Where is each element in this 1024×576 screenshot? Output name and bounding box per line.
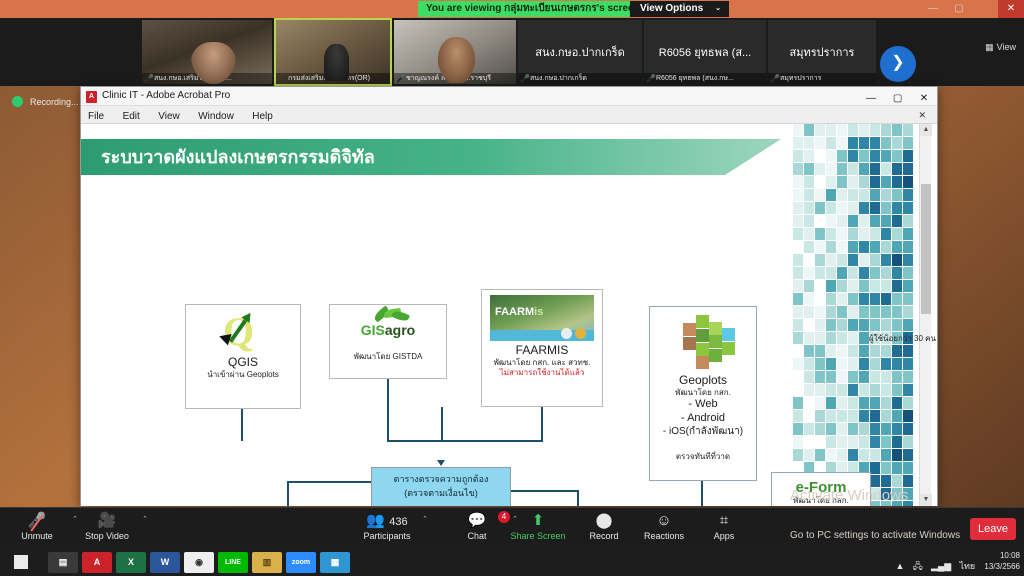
qgis-subtitle: นำเข้าผ่าน Geoplots [186,370,300,380]
activate-windows-subtext: Go to PC settings to activate Windows [790,530,960,541]
acrobat-menu-bar: File Edit View Window Help ✕ [81,106,937,124]
participant-name: สมุทรปราการ [768,73,876,84]
connector-line [511,490,579,492]
view-options-button[interactable]: View Options⌄ [630,1,729,17]
taskbar-item-folder-explorer-icon[interactable]: ▤ [48,552,78,573]
signal-bars-icon[interactable]: ▂▄▆ [931,561,951,572]
participants-count: 436 [389,516,407,528]
unmute-label: Unmute [0,531,74,541]
taskbar-item-line-app-icon[interactable]: LINE [218,552,248,573]
geoplots-platform-web: - Web [650,398,756,412]
apps-bracket-icon: ⌗ [687,511,761,531]
heatmap-legend-label: ผู้ใช้น้อยกว่า 30 คน [869,332,936,345]
taskbar-item-zoom-app-icon[interactable]: zoom [286,552,316,573]
share-screen-button[interactable]: ⬆ Share Screen [501,511,575,541]
acrobat-window-controls: — ▢ ✕ [860,88,935,107]
share-screen-up-arrow-icon: ⬆ [501,511,575,531]
faarmis-logo-icon: FAARMis [490,295,594,341]
gisagro-name-part-b: agro [385,322,415,338]
page-title: ระบบวาดผังแปลงเกษตรกรรมดิจิทัล [101,142,375,171]
clock-time[interactable]: 10:08 [984,550,1020,561]
taskbar-item-excel-icon[interactable]: X [116,552,146,573]
pdf-scrollbar[interactable]: ▲ ▼ [919,124,931,506]
next-participants-button[interactable]: ❯ [880,46,916,82]
connector-line [443,440,543,442]
screen-root: You are viewing กลุ่มทะเบียนเกษตรกร's sc… [0,0,1024,576]
faarmis-warning: ไม่สามารถใช้งานได้แล้ว [482,368,602,378]
participant-name: สนง.กษอ.เสริมไทย ทิพย์... [142,73,272,84]
faarmis-name: FAARMIS [482,343,602,358]
connector-line [701,481,703,506]
leave-meeting-button[interactable]: Leave [970,518,1016,540]
zoom-top-bar: You are viewing กลุ่มทะเบียนเกษตรกร's sc… [0,0,1024,18]
participant-tile-active[interactable]: กรมส่งเสริมการเกษตร(OR) [274,18,392,86]
connector-line [387,379,389,441]
recording-indicator-icon [12,96,23,107]
acrobat-window-title: Clinic IT - Adobe Acrobat Pro [102,90,230,101]
show-hidden-icons-icon[interactable]: ▲ [896,561,905,571]
participants-icon: 👥 436 [350,511,424,531]
diagram-box-gisagro[interactable]: GISagro พัฒนาโดย GISTDA [329,304,447,379]
connector-line [287,481,289,506]
arrow-head-icon [437,460,445,466]
faarmis-img-label-a: FAARM [495,306,534,318]
close-button[interactable]: ✕ [998,0,1024,18]
diagram-box-validation-table[interactable]: ตารางตรวจความถูกต้อง (ตรวจตามเงื่อนไข) [371,467,511,506]
minimize-button[interactable]: — [920,0,946,18]
taskbar-item-paint-icon[interactable]: ▦ [320,552,350,573]
view-layout-button[interactable]: ▦View [985,42,1016,53]
gisagro-subtitle: พัฒนาโดย GISTDA [330,352,446,362]
video-camera-icon: 🎥 [70,511,144,531]
maximize-button[interactable]: ▢ [946,0,972,18]
participant-name: ชาญณรงค์ สนง.กษอ.ราชบุรี [394,73,516,84]
participant-tile[interactable]: สมุทรปราการ 🎤 สมุทรปราการ [768,20,876,84]
connector-line [287,481,373,483]
qgis-logo-icon: Q [217,310,269,354]
scrollbar-thumb[interactable] [921,184,931,314]
stop-video-button[interactable]: 🎥 Stop Video ⌃ [70,511,144,541]
diagram-box-geoplots[interactable]: Geoplots พัฒนาโดย กสก. - Web - Android -… [649,306,757,481]
menu-item-file[interactable]: File [81,109,111,122]
acrobat-close-button[interactable]: ✕ [913,91,935,107]
taskbar-item-word-icon[interactable]: W [150,552,180,573]
network-icon[interactable]: 🖧 [913,559,923,575]
chevron-up-icon[interactable]: ⌃ [142,515,148,523]
pdf-page: ระบบวาดผังแปลงเกษตรกรรมดิจิทัล ผู้ใช้น้อ… [81,124,931,506]
geoplots-platform-android: - Android [650,412,756,426]
clock-date[interactable]: 13/3/2566 [984,561,1020,572]
connector-line [441,407,443,442]
geoplots-footer: ตรวจทันทีที่วาด [650,452,756,462]
participant-tile[interactable]: สนง.กษอ.ปากเกร็ด 🎤 สนง.กษอ.ปากเกร็ด [518,20,642,84]
scroll-up-icon[interactable]: ▲ [920,124,932,136]
geoplots-logo-icon [672,315,734,369]
zoom-meeting-toolbar: 🎤 Unmute ⌃ 🎥 Stop Video ⌃ 👥 436 Particip… [0,507,1024,549]
apps-button[interactable]: ⌗ Apps [687,511,761,541]
participant-name: R6056 ยุทธพล (สนง.กษ... [644,73,766,84]
document-close-icon[interactable]: ✕ [911,108,933,121]
stop-video-label: Stop Video [70,531,144,541]
acrobat-title-bar: A Clinic IT - Adobe Acrobat Pro — ▢ ✕ [81,87,937,106]
unmute-button[interactable]: 🎤 Unmute ⌃ [0,511,74,541]
taskbar-item-file-explorer-icon[interactable]: ▥ [252,552,282,573]
connector-line [241,409,243,441]
diagram-box-faarmis[interactable]: FAARMis FAARMIS พัฒนาโดย กสก. และ สวทช. … [481,289,603,407]
chevron-up-icon[interactable]: ⌃ [422,515,428,523]
share-screen-label: Share Screen [501,531,575,541]
menu-item-window[interactable]: Window [191,109,241,122]
scroll-down-icon[interactable]: ▼ [920,494,932,506]
view-options-label: View Options [640,3,703,14]
taskbar-item-adobe-acrobat-icon[interactable]: A [82,552,112,573]
participant-name: สนง.กษอ.ปากเกร็ด [518,73,642,84]
faarmis-subtitle: พัฒนาโดย กสก. และ สวทช. [482,358,602,368]
taskbar-item-chrome-icon[interactable]: ◉ [184,552,214,573]
participants-label: Participants [350,531,424,541]
menu-item-view[interactable]: View [151,109,187,122]
gisagro-logo-icon: GISagro [340,308,436,342]
geoplots-platform-ios: - iOS(กำลังพัฒนา) [650,426,756,439]
menu-item-help[interactable]: Help [245,109,280,122]
validation-line-1: ตารางตรวจความถูกต้อง [372,468,510,487]
participants-button[interactable]: 👥 436 Participants ⌃ [350,511,424,541]
participant-tile[interactable]: R6056 ยุทธพล (ส... 🎤 R6056 ยุทธพล (สนง.ก… [644,20,766,84]
acrobat-minimize-button[interactable]: — [860,91,882,107]
usage-heatmap [793,124,931,506]
connector-line [541,407,543,441]
qgis-name: QGIS [186,355,300,370]
microphone-muted-icon: 🎤 [0,511,74,531]
recording-label: Recording... [30,97,79,107]
language-indicator[interactable]: ไทย [959,559,975,573]
windows-start-icon[interactable] [6,553,36,573]
participant-filmstrip: 🎤 สนง.กษอ.เสริมไทย ทิพย์... กรมส่งเสริมก… [0,18,1024,86]
geoplots-name: Geoplots [650,373,756,388]
activate-windows-watermark: Activate Windows [790,487,908,504]
chevron-down-icon: ⌄ [715,5,721,12]
view-label: View [997,42,1016,52]
validation-line-2: (ตรวจตามเงื่อนไข) [372,487,510,501]
faarmis-img-label-b: is [534,306,543,318]
participant-tile[interactable]: 🎤 ชาญณรงค์ สนง.กษอ.ราชบุรี [394,20,516,84]
apps-label: Apps [687,531,761,541]
acrobat-document-area: ระบบวาดผังแปลงเกษตรกรรมดิจิทัล ผู้ใช้น้อ… [81,124,937,506]
connector-line [577,490,579,506]
connector-line [387,440,443,442]
windows-taskbar: ▤ A X W ◉ LINE ▥ zoom ▦ ▲ 🖧 ▂▄▆ ไทย 10:0… [0,549,1024,576]
acrobat-window: A Clinic IT - Adobe Acrobat Pro — ▢ ✕ Fi… [80,86,938,506]
participant-name: กรมส่งเสริมการเกษตร(OR) [276,73,390,84]
screen-share-banner: You are viewing กลุ่มทะเบียนเกษตรกร's sc… [418,1,648,17]
grid-icon: ▦ [985,42,994,53]
geoplots-subtitle: พัฒนาโดย กสก. [650,388,756,398]
system-tray: ▲ 🖧 ▂▄▆ ไทย 10:08 13/3/2566 [893,550,1020,575]
diagram-box-qgis[interactable]: Q QGIS นำเข้าผ่าน Geoplots [185,304,301,409]
gisagro-name-part-a: GIS [361,322,385,338]
acrobat-maximize-button[interactable]: ▢ [887,91,909,107]
participant-tile[interactable]: 🎤 สนง.กษอ.เสริมไทย ทิพย์... [142,20,272,84]
menu-item-edit[interactable]: Edit [116,109,147,122]
pdf-icon: A [86,91,97,103]
